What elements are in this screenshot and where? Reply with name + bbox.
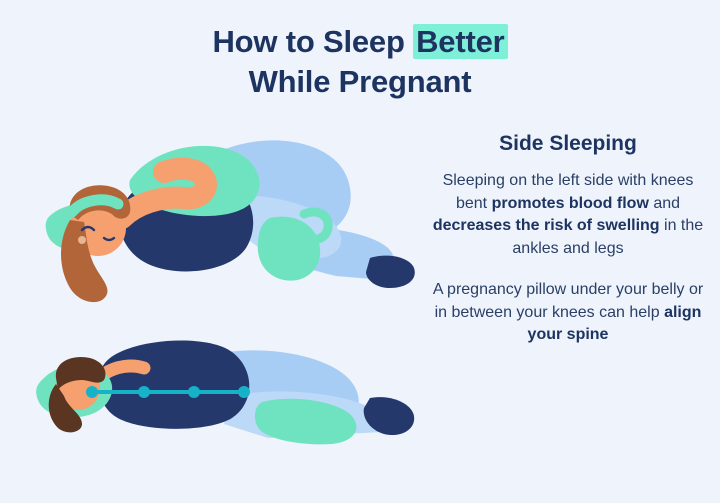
para2-part1: A pregnancy pillow under your belly or i… (433, 281, 703, 321)
paragraph-pregnancy-pillow: A pregnancy pillow under your belly or i… (432, 279, 704, 347)
pregnant-woman-pillow-svg (18, 108, 428, 308)
cheek-blush (78, 236, 86, 244)
torso-shape-2 (98, 341, 249, 429)
foot-shape (366, 256, 415, 288)
title-highlight-word: Better (413, 24, 507, 59)
side-sleeping-section: Side Sleeping Sleeping on the left side … (432, 132, 704, 365)
section-heading: Side Sleeping (432, 132, 704, 156)
title-line-1: How to Sleep Better (0, 22, 720, 62)
para1-bold2: decreases the risk of swelling (433, 217, 660, 234)
title-line-2: While Pregnant (0, 62, 720, 102)
para1-bold1: promotes blood flow (492, 195, 649, 212)
arm-shape-2 (104, 366, 144, 374)
spine-point-upper (138, 386, 150, 398)
page-title: How to Sleep Better While Pregnant (0, 22, 720, 101)
para1-part2: and (649, 195, 680, 212)
infographic-page: How to Sleep Better While Pregnant Side … (0, 0, 720, 503)
title-text-before: How to Sleep (212, 24, 413, 59)
pregnant-woman-spine-svg (18, 300, 428, 490)
spine-point-head (86, 386, 98, 398)
spine-point-hip (238, 386, 250, 398)
illustration-spine-alignment (18, 300, 428, 490)
paragraph-blood-flow: Sleeping on the left side with knees ben… (432, 170, 704, 261)
illustration-side-sleeping-pillow (18, 108, 428, 308)
spine-point-mid (188, 386, 200, 398)
